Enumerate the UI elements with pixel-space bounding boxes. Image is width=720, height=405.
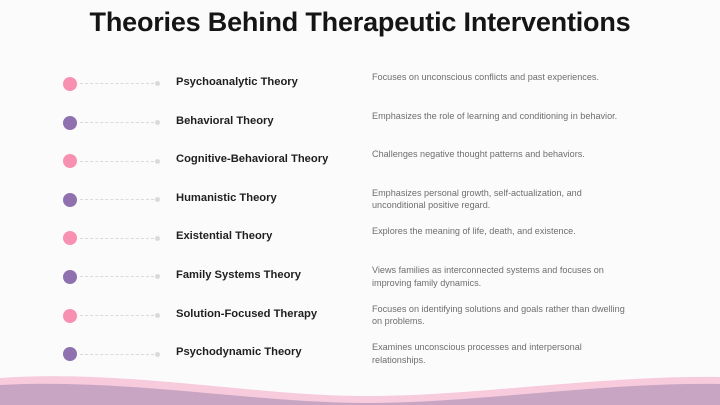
connector-end-dot-icon [155, 352, 160, 357]
dashed-connector [80, 315, 154, 316]
dashed-connector [80, 238, 154, 239]
theory-marker [0, 104, 170, 143]
dashed-connector [80, 199, 154, 200]
dashed-connector [80, 83, 154, 84]
theory-row: Behavioral TheoryEmphasizes the role of … [0, 104, 720, 143]
theory-description: Focuses on identifying solutions and goa… [372, 303, 628, 328]
bullet-dot-pink-icon [63, 309, 77, 323]
connector-end-dot-icon [155, 197, 160, 202]
theory-label: Psychoanalytic Theory [176, 75, 366, 89]
theory-marker [0, 219, 170, 258]
connector-end-dot-icon [155, 120, 160, 125]
theory-row: Solution-Focused TherapyFocuses on ident… [0, 297, 720, 336]
theory-label: Existential Theory [176, 229, 366, 243]
theory-marker [0, 142, 170, 181]
bullet-dot-pink-icon [63, 154, 77, 168]
theory-description: Views families as interconnected systems… [372, 264, 628, 289]
decorative-wave [0, 365, 720, 405]
bullet-dot-pink-icon [63, 231, 77, 245]
theory-label: Psychodynamic Theory [176, 345, 366, 359]
theory-marker [0, 297, 170, 336]
connector-end-dot-icon [155, 236, 160, 241]
bullet-dot-purple-icon [63, 270, 77, 284]
theory-description: Emphasizes personal growth, self-actuali… [372, 187, 628, 212]
theory-marker [0, 181, 170, 220]
theory-description: Challenges negative thought patterns and… [372, 148, 628, 161]
connector-end-dot-icon [155, 159, 160, 164]
theory-description: Focuses on unconscious conflicts and pas… [372, 71, 628, 84]
dashed-connector [80, 161, 154, 162]
connector-end-dot-icon [155, 274, 160, 279]
theory-label: Humanistic Theory [176, 191, 366, 205]
bullet-dot-purple-icon [63, 347, 77, 361]
bullet-dot-pink-icon [63, 77, 77, 91]
theory-list: Psychoanalytic TheoryFocuses on unconsci… [0, 65, 720, 374]
theory-row: Cognitive-Behavioral TheoryChallenges ne… [0, 142, 720, 181]
theory-row: Humanistic TheoryEmphasizes personal gro… [0, 181, 720, 220]
theory-row: Psychoanalytic TheoryFocuses on unconsci… [0, 65, 720, 104]
theory-label: Behavioral Theory [176, 114, 366, 128]
theory-description: Emphasizes the role of learning and cond… [372, 110, 628, 123]
slide-canvas: Theories Behind Therapeutic Intervention… [0, 0, 720, 405]
connector-end-dot-icon [155, 81, 160, 86]
theory-label: Solution-Focused Therapy [176, 307, 366, 321]
connector-end-dot-icon [155, 313, 160, 318]
theory-label: Family Systems Theory [176, 268, 366, 282]
theory-marker [0, 65, 170, 104]
dashed-connector [80, 122, 154, 123]
theory-row: Family Systems TheoryViews families as i… [0, 258, 720, 297]
dashed-connector [80, 354, 154, 355]
theory-row: Existential TheoryExplores the meaning o… [0, 219, 720, 258]
theory-description: Examines unconscious processes and inter… [372, 341, 628, 366]
theory-marker [0, 258, 170, 297]
bullet-dot-purple-icon [63, 193, 77, 207]
bullet-dot-purple-icon [63, 116, 77, 130]
page-title: Theories Behind Therapeutic Intervention… [0, 7, 720, 38]
theory-label: Cognitive-Behavioral Theory [176, 152, 366, 166]
theory-description: Explores the meaning of life, death, and… [372, 225, 628, 238]
dashed-connector [80, 276, 154, 277]
